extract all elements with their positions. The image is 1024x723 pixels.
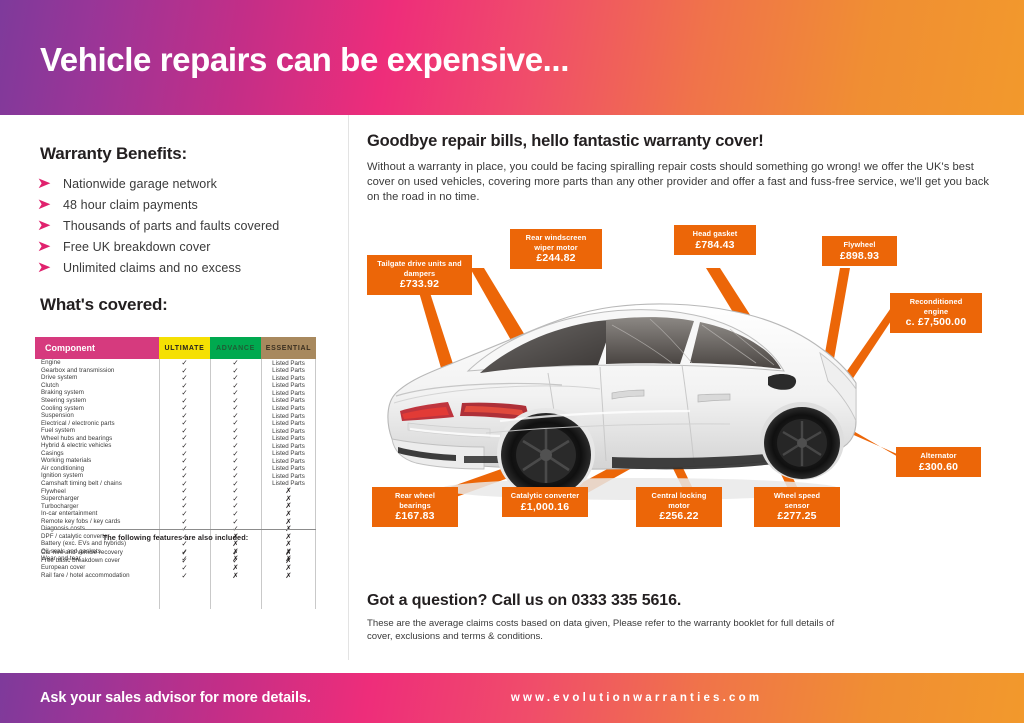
cell-component: Cooling system (35, 405, 159, 412)
warranty-benefits-list: ➤Nationwide garage network➤48 hour claim… (38, 173, 338, 278)
cell-component: Air conditioning (35, 465, 159, 472)
column-divider (210, 549, 211, 609)
callout-flywheel[interactable]: Flywheel £898.93 (822, 236, 897, 266)
callout-amount: £277.25 (761, 512, 833, 522)
cell-component: Electrical / electronic parts (35, 420, 159, 427)
table-row: Free basic breakdown cover✓✓✗ (35, 557, 316, 565)
chevron-right-icon: ➤ (37, 218, 57, 233)
cell-ultimate: ✓ (159, 572, 210, 580)
lead-body: Without a warranty in place, you could b… (367, 160, 997, 206)
callout-rear-windscreen-wiper-motor[interactable]: Rear windscreen wiper motor £244.82 (510, 229, 602, 269)
callout-amount: £244.82 (517, 254, 595, 264)
column-divider (261, 549, 262, 609)
cell-component: Car hire and vehicle recovery (35, 549, 159, 556)
callout-amount: £300.60 (903, 463, 974, 473)
lead-heading: Goodbye repair bills, hello fantastic wa… (367, 132, 764, 151)
callout-label: Alternator (903, 451, 974, 461)
cell-component: Braking system (35, 389, 159, 396)
table-row: European cover✓✗✗ (35, 564, 316, 572)
cell-component: Working materials (35, 457, 159, 464)
left-column: Warranty Benefits: ➤Nationwide garage ne… (0, 115, 350, 660)
table-row: Supercharger✓✓✗ (35, 495, 316, 503)
also-included-heading: The following features are also included… (35, 533, 316, 542)
benefit-label: Unlimited claims and no excess (63, 261, 241, 275)
cell-component: Engine (35, 359, 159, 366)
spacer (0, 660, 1024, 673)
cell-component: Casings (35, 450, 159, 457)
page-header: Vehicle repairs can be expensive... (0, 0, 1024, 115)
callout-head-gasket[interactable]: Head gasket £784.43 (674, 225, 756, 255)
callout-label: Reconditioned engine (897, 297, 975, 316)
page-footer: Ask your sales advisor for more details.… (0, 673, 1024, 723)
benefit-item: ➤Free UK breakdown cover (38, 236, 338, 257)
callout-label: Wheel speed sensor (761, 491, 833, 510)
callout-wheel-speed-sensor[interactable]: Wheel speed sensor £277.25 (754, 487, 840, 527)
cta-heading: Got a question? Call us on 0333 335 5616… (367, 592, 681, 610)
rear-wheel (497, 408, 595, 498)
col-header-essential: ESSENTIAL (261, 337, 316, 359)
cell-component: Turbocharger (35, 503, 159, 510)
chevron-right-icon: ➤ (37, 239, 57, 254)
cta-disclaimer: These are the average claims costs based… (367, 618, 837, 643)
chevron-right-icon: ➤ (37, 197, 57, 212)
brochure-page: Vehicle repairs can be expensive... Warr… (0, 0, 1024, 723)
chevron-right-icon: ➤ (37, 176, 57, 191)
callout-label: Rear windscreen wiper motor (517, 233, 595, 252)
table-row: Rail fare / hotel accommodation✓✗✗ (35, 572, 316, 580)
callout-alternator[interactable]: Alternator £300.60 (896, 447, 981, 477)
cell-component: Free basic breakdown cover (35, 557, 159, 564)
cell-component: Clutch (35, 382, 159, 389)
cell-essential-mark: ✗ (285, 571, 291, 580)
coverage-table-header: Component ULTIMATE ADVANCE ESSENTIAL (35, 337, 316, 359)
chevron-right-icon: ➤ (37, 260, 57, 275)
column-divider-vertical (348, 115, 349, 660)
callout-label: Head gasket (681, 229, 749, 239)
whats-covered-heading: What's covered: (40, 295, 168, 315)
col-header-component: Component (35, 337, 159, 359)
vehicle-diagram: Tailgate drive units and dampers £733.92… (350, 225, 1024, 575)
benefit-item: ➤Thousands of parts and faults covered (38, 215, 338, 236)
callout-amount: £898.93 (829, 252, 890, 262)
cell-component: Remote key fobs / key cards (35, 518, 159, 525)
page-title: Vehicle repairs can be expensive... (40, 41, 569, 79)
callout-rear-wheel-bearings[interactable]: Rear wheel bearings £167.83 (372, 487, 458, 527)
col-header-ultimate: ULTIMATE (159, 337, 210, 359)
callout-label: Central locking motor (643, 491, 715, 510)
footer-message: Ask your sales advisor for more details. (40, 690, 311, 706)
cell-component: Supercharger (35, 495, 159, 502)
cell-component: In-car entertainment (35, 510, 159, 517)
cell-component: Fuel system (35, 427, 159, 434)
callout-amount: £1,000.16 (509, 503, 581, 513)
column-divider (159, 549, 160, 609)
also-included-rows: Car hire and vehicle recovery✓✓✗Free bas… (35, 549, 316, 579)
benefit-item: ➤Unlimited claims and no excess (38, 257, 338, 278)
cell-essential: ✗ (261, 572, 316, 580)
cell-component: European cover (35, 564, 159, 571)
footer-website-url[interactable]: www.evolutionwarranties.com (511, 692, 762, 704)
section-divider (44, 529, 316, 530)
benefit-label: 48 hour claim payments (63, 198, 198, 212)
callout-label: Catalytic converter (509, 491, 581, 501)
callout-reconditioned-engine[interactable]: Reconditioned engine c. £7,500.00 (890, 293, 982, 333)
cell-component: Flywheel (35, 488, 159, 495)
callout-tailgate-drive-units[interactable]: Tailgate drive units and dampers £733.92 (367, 255, 472, 295)
cell-advance: ✗ (210, 572, 261, 580)
callout-amount: £256.22 (643, 512, 715, 522)
table-row: Camshaft timing belt / chains✓✓Listed Pa… (35, 480, 316, 488)
callout-amount: c. £7,500.00 (897, 318, 975, 328)
table-row: Car hire and vehicle recovery✓✓✗ (35, 549, 316, 557)
table-row: Remote key fobs / key cards✓✓✗ (35, 517, 316, 525)
callout-label: Flywheel (829, 240, 890, 250)
callout-label: Tailgate drive units and dampers (374, 259, 465, 278)
callout-amount: £167.83 (379, 512, 451, 522)
benefit-label: Nationwide garage network (63, 177, 217, 191)
cell-component: Gearbox and transmission (35, 367, 159, 374)
benefit-item: ➤Nationwide garage network (38, 173, 338, 194)
cell-component: Ignition system (35, 472, 159, 479)
warranty-benefits-heading: Warranty Benefits: (40, 144, 187, 164)
cell-component: Drive system (35, 374, 159, 381)
callout-amount: £733.92 (374, 280, 465, 290)
cell-component: Hybrid & electric vehicles (35, 442, 159, 449)
benefit-item: ➤48 hour claim payments (38, 194, 338, 215)
cell-component: Wheel hubs and bearings (35, 435, 159, 442)
cell-component: Suspension (35, 412, 159, 419)
cell-component: Camshaft timing belt / chains (35, 480, 159, 487)
callout-label: Rear wheel bearings (379, 491, 451, 510)
benefit-label: Free UK breakdown cover (63, 240, 211, 254)
front-wheel (760, 402, 844, 480)
callout-central-locking-motor[interactable]: Central locking motor £256.22 (636, 487, 722, 527)
col-header-advance: ADVANCE (210, 337, 261, 359)
callout-catalytic-converter[interactable]: Catalytic converter £1,000.16 (502, 487, 588, 517)
table-row: In-car entertainment✓✓✗ (35, 510, 316, 518)
cell-component: Steering system (35, 397, 159, 404)
cell-component: Rail fare / hotel accommodation (35, 572, 159, 579)
right-column: Goodbye repair bills, hello fantastic wa… (350, 115, 1024, 660)
table-row: Turbocharger✓✓✗ (35, 502, 316, 510)
callout-amount: £784.43 (681, 241, 749, 251)
table-row: Flywheel✓✓✗ (35, 487, 316, 495)
column-divider (315, 549, 316, 609)
benefit-label: Thousands of parts and faults covered (63, 219, 279, 233)
